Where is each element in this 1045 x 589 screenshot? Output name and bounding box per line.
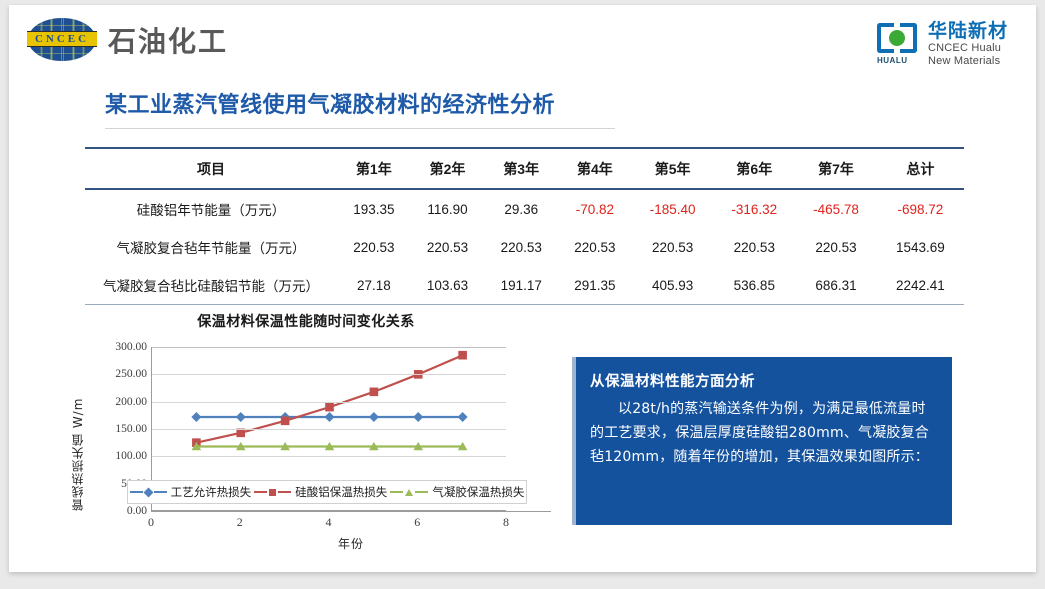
legend-line-icon [390,491,403,493]
cncec-globe-icon: CNCEC [28,18,96,61]
chart-gridline [152,402,506,403]
chart-data-point [191,412,201,422]
title-divider [105,128,615,129]
page-title: 某工业蒸汽管线使用气凝胶材料的经济性分析 [105,87,635,128]
chart-data-point [413,412,423,422]
table-col-header: 第1年 [337,148,411,189]
table-cell-value: 220.53 [484,228,558,266]
legend-label: 气凝胶保温热损失 [432,484,524,500]
chart-gridline [152,429,506,430]
table-cell-value: 220.53 [411,228,485,266]
cncec-brand-name: 石油化工 [108,20,228,60]
hualu-logo: HUALU 华陆新材 CNCEC Hualu New Materials [877,21,1008,67]
table-header-row: 项目第1年第2年第3年第4年第5年第6年第7年总计 [85,148,964,189]
chart-data-point [458,412,468,422]
table-cell-value: 405.93 [632,266,714,305]
chart-y-tick-label: 200.00 [85,396,147,408]
table-col-header: 第4年 [558,148,632,189]
table-cell-value: 291.35 [558,266,632,305]
chart-x-tick-label: 8 [503,515,509,530]
callout-body: 以28t/h的蒸汽输送条件为例，为满足最低流量时的工艺要求，保温层厚度硅酸铝28… [590,397,936,469]
table-cell-value: 116.90 [411,189,485,228]
table-col-header: 第6年 [713,148,795,189]
chart-y-tick-label: 300.00 [85,341,147,353]
chart-data-point [458,351,467,360]
chart-legend-item: 气凝胶保温热损失 [390,484,524,500]
table-cell-value: 220.53 [713,228,795,266]
table-col-header: 第5年 [632,148,714,189]
chart-legend-item: 硅酸铝保温热损失 [254,484,387,500]
chart-x-tick-label: 2 [237,515,243,530]
table-cell-value: -698.72 [877,189,964,228]
table-cell-value: 27.18 [337,266,411,305]
chart-legend: 工艺允许热损失硅酸铝保温热损失气凝胶保温热损失 [127,480,527,504]
table-cell-item: 气凝胶复合毡年节能量（万元） [85,228,337,266]
chart-x-tick-label: 0 [148,515,154,530]
table-col-header: 总计 [877,148,964,189]
table-header: 项目第1年第2年第3年第4年第5年第6年第7年总计 [85,148,964,189]
table-cell-value: 220.53 [632,228,714,266]
hualu-mark-word: HUALU [877,56,921,65]
hualu-brand-en-line2: New Materials [928,55,1008,67]
table-cell-value: 29.36 [484,189,558,228]
table-cell-value: 193.35 [337,189,411,228]
table-col-header: 项目 [85,148,337,189]
table-cell-value: -316.32 [713,189,795,228]
slide-header: CNCEC 石油化工 HUALU 华陆新材 CNCEC Hualu New Ma… [9,5,1036,77]
table-row: 硅酸铝年节能量（万元）193.35116.9029.36-70.82-185.4… [85,189,964,228]
legend-line-icon [278,491,291,493]
chart-y-tick-label: 150.00 [85,423,147,435]
chart-x-axis-line [151,511,551,512]
hualu-wordmark: 华陆新材 CNCEC Hualu New Materials [928,21,1008,67]
chart-gridline [152,347,506,348]
chart-y-tick-label: 100.00 [85,450,147,462]
legend-label: 工艺允许热损失 [171,484,252,500]
chart-title: 保温材料保温性能随时间变化关系 [71,311,541,331]
chart-gridline [152,456,506,457]
table-cell-value: 686.31 [795,266,877,305]
hualu-brand-cn: 华陆新材 [928,21,1008,42]
chart-data-point [325,403,334,412]
table-cell-value: 220.53 [337,228,411,266]
legend-line-icon [254,491,267,493]
legend-marker-icon [269,489,276,496]
table-body: 硅酸铝年节能量（万元）193.35116.9029.36-70.82-185.4… [85,189,964,305]
chart-data-point [236,412,246,422]
table-col-header: 第2年 [411,148,485,189]
chart-plot-area: 管线热损失值 W/m 0.0050.00100.00150.00200.0025… [71,341,541,561]
legend-line-icon [130,491,143,493]
slide-canvas: CNCEC 石油化工 HUALU 华陆新材 CNCEC Hualu New Ma… [9,5,1036,572]
chart-data-point [281,417,290,426]
chart-y-tick-label: 0.00 [85,505,147,517]
chart-y-axis-label: 管线热损失值 W/m [69,377,86,532]
table-row: 气凝胶复合毡年节能量（万元）220.53220.53220.53220.5322… [85,228,964,266]
table-col-header: 第7年 [795,148,877,189]
chart-data-point [370,388,379,397]
table-cell-value: 220.53 [558,228,632,266]
table-cell-value: -185.40 [632,189,714,228]
legend-label: 硅酸铝保温热损失 [295,484,387,500]
cncec-logo: CNCEC 石油化工 [28,18,228,61]
table-col-header: 第3年 [484,148,558,189]
chart-x-tick-label: 6 [414,515,420,530]
table-cell-item: 气凝胶复合毡比硅酸铝节能（万元） [85,266,337,305]
table-cell-value: 536.85 [713,266,795,305]
chart-y-ticks: 0.0050.00100.00150.00200.00250.00300.00 [85,341,147,561]
callout-heading: 从保温材料性能方面分析 [590,370,936,391]
table-cell-value: -465.78 [795,189,877,228]
cncec-mark-text: CNCEC [27,31,97,47]
insulation-performance-chart: 保温材料保温性能随时间变化关系 管线热损失值 W/m 0.0050.00100.… [71,311,541,561]
table-cell-item: 硅酸铝年节能量（万元） [85,189,337,228]
legend-marker-icon [143,487,153,497]
chart-legend-item: 工艺允许热损失 [130,484,252,500]
hualu-brand-en-line1: CNCEC Hualu [928,42,1008,54]
table-row: 气凝胶复合毡比硅酸铝节能（万元）27.18103.63191.17291.354… [85,266,964,305]
table-cell-value: 103.63 [411,266,485,305]
page-title-block: 某工业蒸汽管线使用气凝胶材料的经济性分析 [105,87,635,129]
chart-data-point [369,412,379,422]
hualu-mark-icon: HUALU [877,21,921,65]
legend-marker-icon [405,489,413,496]
table-cell-value: 2242.41 [877,266,964,305]
table-cell-value: -70.82 [558,189,632,228]
table-cell-value: 191.17 [484,266,558,305]
chart-x-tick-label: 4 [326,515,332,530]
chart-gridline [152,374,506,375]
table-cell-value: 1543.69 [877,228,964,266]
chart-y-tick-label: 250.00 [85,368,147,380]
chart-data-point [325,412,335,422]
legend-line-icon [154,491,167,493]
legend-line-icon [415,491,428,493]
chart-x-axis-label: 年份 [151,535,551,552]
analysis-callout: 从保温材料性能方面分析 以28t/h的蒸汽输送条件为例，为满足最低流量时的工艺要… [572,357,952,525]
economics-table: 项目第1年第2年第3年第4年第5年第6年第7年总计 硅酸铝年节能量（万元）193… [85,147,964,305]
table-cell-value: 220.53 [795,228,877,266]
